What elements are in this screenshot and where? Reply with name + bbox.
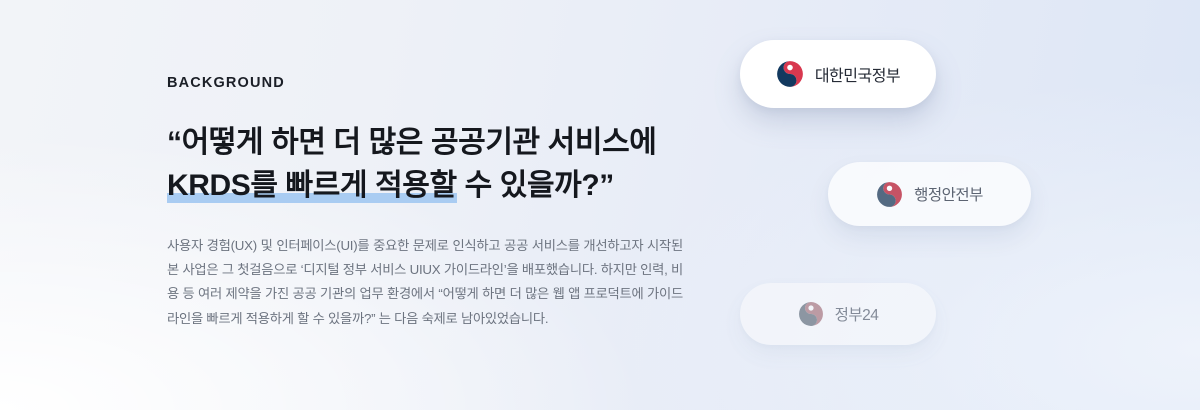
taegeuk-emblem-icon bbox=[798, 301, 824, 327]
background-section: BACKGROUND “어떻게 하면 더 많은 공공기관 서비스에 KRDS를 … bbox=[0, 0, 1200, 410]
body-paragraph: 사용자 경험(UX) 및 인터페이스(UI)를 중요한 문제로 인식하고 공공 … bbox=[167, 234, 683, 331]
page-headline: “어떻게 하면 더 많은 공공기관 서비스에 KRDS를 빠르게 적용할 수 있… bbox=[167, 121, 697, 209]
taegeuk-emblem-icon bbox=[776, 60, 804, 88]
badge-label: 대한민국정부 bbox=[815, 62, 900, 86]
badge-label: 행정안전부 bbox=[914, 183, 983, 205]
badge-card-korean-government[interactable]: 대한민국정부 bbox=[740, 40, 936, 108]
text-column: BACKGROUND “어떻게 하면 더 많은 공공기관 서비스에 KRDS를 … bbox=[167, 76, 697, 331]
headline-highlighted-phrase: KRDS를 빠르게 적용할 bbox=[167, 169, 457, 203]
badge-label: 정부24 bbox=[835, 303, 879, 325]
section-eyebrow-label: BACKGROUND bbox=[167, 76, 697, 91]
badge-card-government24[interactable]: 정부24 bbox=[740, 283, 936, 345]
taegeuk-emblem-icon bbox=[876, 181, 903, 208]
headline-line-1: “어떻게 하면 더 많은 공공기관 서비스에 bbox=[167, 126, 656, 159]
headline-line-2: KRDS를 빠르게 적용할 수 있을까?” bbox=[167, 164, 697, 208]
badge-card-ministry-interior-safety[interactable]: 행정안전부 bbox=[828, 162, 1031, 226]
headline-trailing-phrase: 수 있을까?” bbox=[457, 169, 614, 202]
